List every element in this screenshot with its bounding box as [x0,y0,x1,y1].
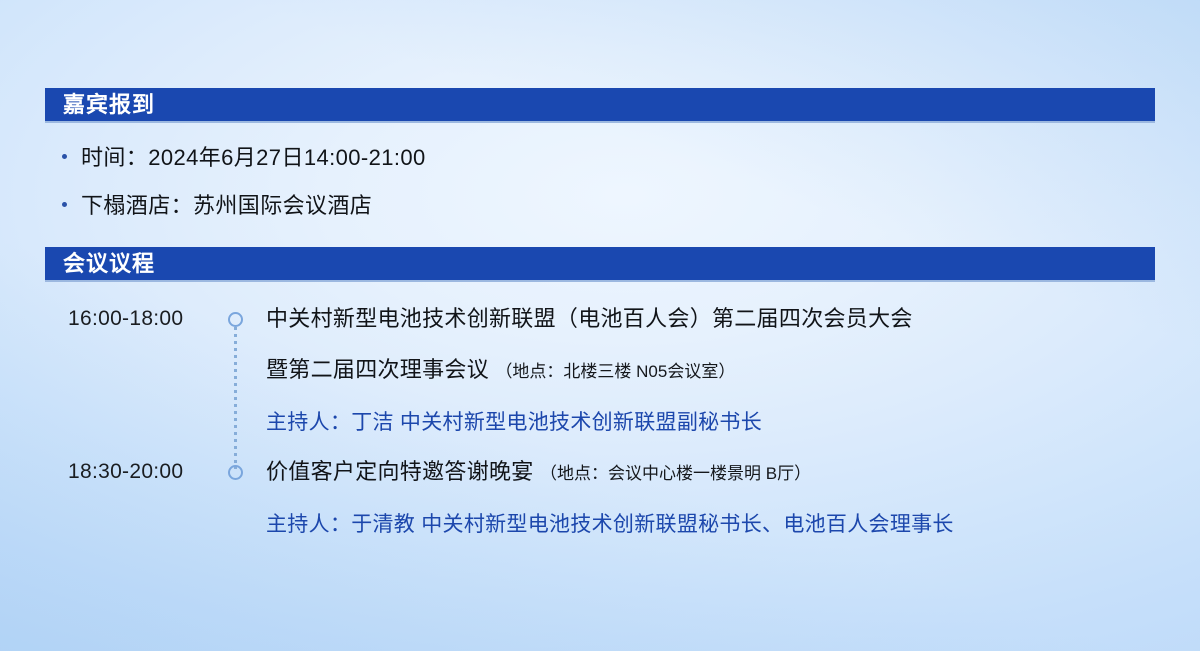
agenda-item-host: 主持人：丁洁 中关村新型电池技术创新联盟副秘书长 [266,409,1180,437]
bullet-dot-icon [62,154,67,159]
guest-checkin-hotel-text: 下榻酒店：苏州国际会议酒店 [81,188,372,220]
guest-checkin-bullet-list: 时间：2024年6月27日14:00-21:00 下榻酒店：苏州国际会议酒店 [62,140,426,236]
agenda-item: 16:00-18:00 中关村新型电池技术创新联盟（电池百人会）第二届四次会员大… [0,305,1200,437]
section-title-guest-checkin: 嘉宾报到 [45,94,155,116]
section-header-agenda: 会议议程 [45,247,1155,282]
agenda-item-venue-text: （地点：北楼三楼 N05会议室） [495,362,735,381]
section-title-agenda: 会议议程 [45,253,155,275]
agenda-item-host: 主持人：于清教 中关村新型电池技术创新联盟秘书长、电池百人会理事长 [266,511,1180,539]
agenda-item-title-line-1: 价值客户定向特邀答谢晚宴 （地点：会议中心楼一楼景明 B厅） [266,458,1180,488]
agenda-item-time: 18:30-20:00 [68,458,214,486]
agenda-item-time: 16:00-18:00 [68,305,214,333]
timeline-marker-icon [228,312,243,327]
agenda-item-body: 中关村新型电池技术创新联盟（电池百人会）第二届四次会员大会 暨第二届四次理事会议… [266,305,1200,437]
agenda-item: 18:30-20:00 价值客户定向特邀答谢晚宴 （地点：会议中心楼一楼景明 B… [0,458,1200,539]
agenda-item-title-text: 中关村新型电池技术创新联盟（电池百人会）第二届四次会员大会 [266,306,913,331]
agenda-item-title-line-1: 中关村新型电池技术创新联盟（电池百人会）第二届四次会员大会 [266,305,1180,333]
section-header-guest-checkin: 嘉宾报到 [45,88,1155,123]
timeline-marker-icon [228,465,243,480]
agenda-item-venue-text: （地点：会议中心楼一楼景明 B厅） [540,464,811,483]
guest-checkin-time-text: 时间：2024年6月27日14:00-21:00 [81,140,426,172]
agenda-list: 16:00-18:00 中关村新型电池技术创新联盟（电池百人会）第二届四次会员大… [0,305,1200,539]
agenda-item-title-text: 价值客户定向特邀答谢晚宴 [266,459,534,484]
agenda-item-body: 价值客户定向特邀答谢晚宴 （地点：会议中心楼一楼景明 B厅） 主持人：于清教 中… [266,458,1200,539]
agenda-item-subtitle-text: 暨第二届四次理事会议 [266,357,489,382]
slide-canvas: 嘉宾报到 时间：2024年6月27日14:00-21:00 下榻酒店：苏州国际会… [0,0,1200,651]
list-item: 下榻酒店：苏州国际会议酒店 [62,188,426,236]
list-item: 时间：2024年6月27日14:00-21:00 [62,140,426,188]
bullet-dot-icon [62,202,67,207]
agenda-item-title-line-2: 暨第二届四次理事会议 （地点：北楼三楼 N05会议室） [266,356,1180,386]
